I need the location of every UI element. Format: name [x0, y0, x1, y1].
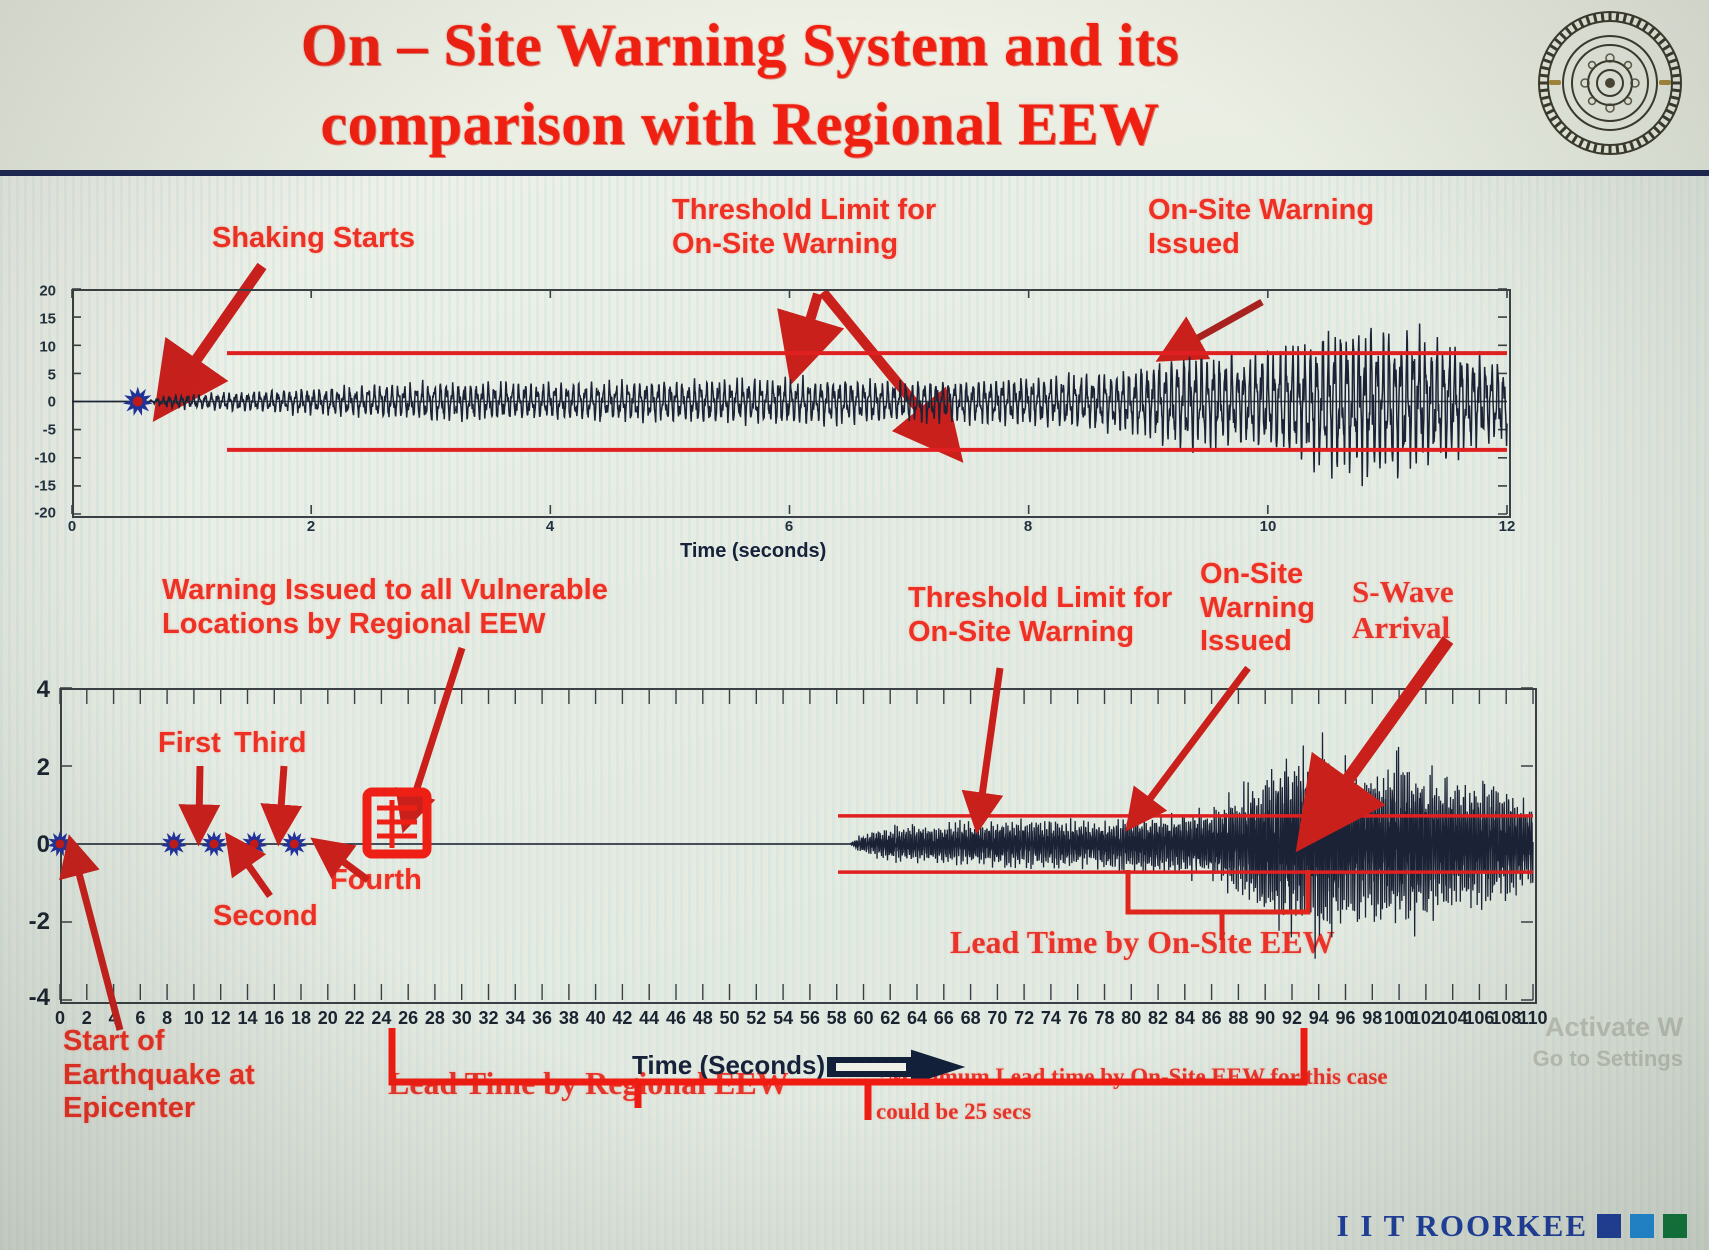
- y-tick-top-0: 0: [22, 394, 56, 411]
- arrow-start-of-earthquake: [75, 858, 120, 1030]
- y-tick-top-20: 20: [22, 283, 56, 300]
- header-divider: [0, 170, 1709, 176]
- y-tick-top-m10: -10: [22, 450, 56, 467]
- y-tick-top-m5: -5: [22, 422, 56, 439]
- brand-label: I I T ROORKEE: [1337, 1208, 1588, 1244]
- page-title-line1: On – Site Warning System and its: [150, 6, 1330, 85]
- y-tick-top-5: 5: [22, 367, 56, 384]
- y-tick-top-m20: -20: [22, 505, 56, 522]
- chart-top-accelerogram: Shaking Starts Threshold Limit for On-Si…: [0, 182, 1709, 557]
- bracket-lead-time-on-site: [1128, 870, 1308, 940]
- y-tick-top-10: 10: [22, 339, 56, 356]
- x-tick-top-8: 8: [1024, 518, 1032, 535]
- page-title: On – Site Warning System and its compari…: [150, 6, 1330, 164]
- page-title-line2: comparison with Regional EEW: [150, 85, 1330, 164]
- chart-bottom-accelerogram: Warning Issued to all Vulnerable Locatio…: [0, 560, 1709, 1250]
- regional-warning-box-icon: [367, 792, 427, 854]
- watermark-line2: Go to Settings: [1533, 1046, 1683, 1072]
- bracket-lead-time-regional: [392, 1028, 1304, 1108]
- x-tick-top-12: 12: [1499, 518, 1516, 535]
- arrow-first: [199, 766, 200, 822]
- arrow-fourth: [330, 852, 368, 880]
- annotation-arrows-bottom: [0, 560, 1709, 1250]
- arrow-regional-warning: [410, 648, 462, 810]
- arrow-threshold-bottom: [980, 668, 1000, 810]
- brand-iit-roorkee: I I T ROORKEE: [1337, 1208, 1687, 1244]
- arrow-on-site-warning-bottom: [1140, 668, 1248, 812]
- y-tick-top-m15: -15: [22, 478, 56, 495]
- arrow-second: [239, 852, 270, 896]
- brand-square-2: [1630, 1214, 1654, 1238]
- x-tick-top-10: 10: [1260, 518, 1277, 535]
- brand-square-3: [1663, 1214, 1687, 1238]
- y-tick-top-15: 15: [22, 311, 56, 328]
- watermark-line1: Activate W: [1545, 1012, 1683, 1043]
- x-tick-top-6: 6: [785, 518, 793, 535]
- waveform-top: [72, 289, 1507, 514]
- slide-header: On – Site Warning System and its compari…: [0, 0, 1709, 176]
- arrow-third: [280, 766, 284, 822]
- x-tick-top-4: 4: [546, 518, 554, 535]
- x-tick-top-2: 2: [307, 518, 315, 535]
- iit-roorkee-seal-icon: [1535, 8, 1685, 158]
- x-tick-top-0: 0: [68, 518, 76, 535]
- arrow-s-wave-arrival: [1326, 640, 1448, 810]
- brand-square-1: [1597, 1214, 1621, 1238]
